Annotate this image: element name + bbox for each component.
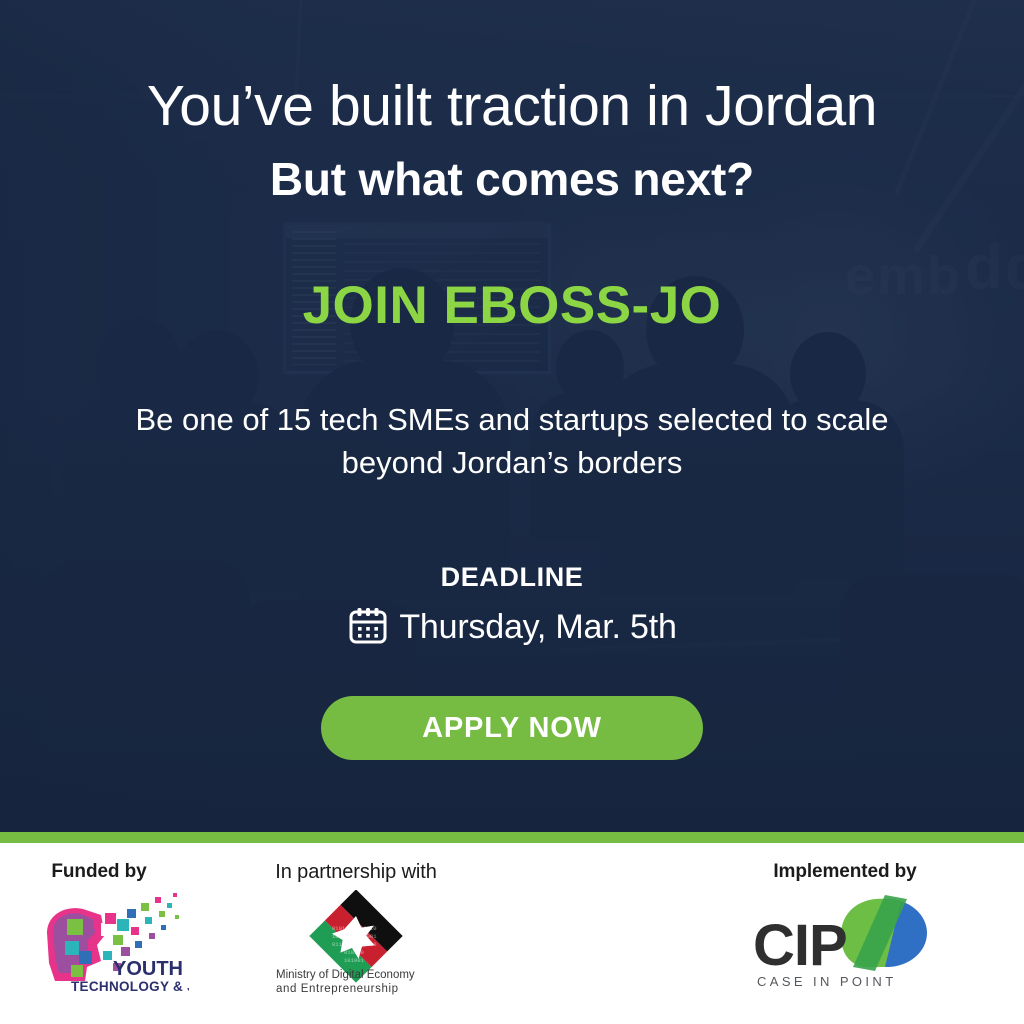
cip-logo-subtitle: CASE IN POINT	[757, 974, 897, 989]
hero-section: emb dd You’ve built traction in Jordan B…	[0, 0, 1024, 833]
deadline-date: Thursday, Mar. 5th	[399, 608, 676, 647]
hero-content: You’ve built traction in Jordan But what…	[0, 0, 1024, 833]
ministry-name-line1: Ministry of Digital Economy	[276, 969, 415, 981]
hero-subcopy: Be one of 15 tech SMEs and startups sele…	[70, 398, 954, 485]
ytj-logo-title: YOUTH	[113, 958, 183, 980]
partnership-label: In partnership with	[252, 861, 460, 884]
funded-by-label: Funded by	[6, 861, 192, 883]
promotional-poster: emb dd You’ve built traction in Jordan B…	[0, 0, 1024, 1024]
footer-column-partnership: In partnership with 01011 10010 01101 10…	[252, 861, 460, 996]
deadline-label: DEADLINE	[0, 562, 1024, 593]
green-divider	[0, 832, 1024, 843]
subcopy-line-1: Be one of 15 tech SMEs and startups sele…	[135, 402, 888, 437]
youth-technology-jobs-logo: YOUTH TECHNOLOGY & JOBS	[6, 889, 192, 997]
deadline-row: Thursday, Mar. 5th	[0, 604, 1024, 651]
footer-partners: Funded by	[0, 843, 1024, 1024]
implemented-by-label: Implemented by	[714, 861, 976, 883]
cip-logo: CIP CASE IN POINT	[714, 889, 976, 997]
ytj-logo-subtitle: TECHNOLOGY & JOBS	[71, 979, 189, 994]
program-title: JOIN EBOSS-JO	[0, 275, 1024, 336]
footer-column-funded: Funded by	[6, 861, 192, 997]
footer-column-implemented: Implemented by CIP CASE IN POINT	[714, 861, 976, 997]
cip-logo-title: CIP	[753, 913, 847, 978]
ministry-name-line2: and Entrepreneurship	[276, 983, 399, 995]
calendar-icon	[347, 604, 389, 651]
svg-text:101001: 101001	[344, 957, 365, 964]
jordan-ministry-logo: 01011 10010 01101 10110 01001 11010 0101…	[252, 890, 460, 996]
headline-secondary: But what comes next?	[0, 152, 1024, 206]
subcopy-line-2: beyond Jordan’s borders	[342, 445, 683, 480]
headline-primary: You’ve built traction in Jordan	[0, 76, 1024, 138]
apply-now-button[interactable]: APPLY NOW	[321, 696, 703, 760]
